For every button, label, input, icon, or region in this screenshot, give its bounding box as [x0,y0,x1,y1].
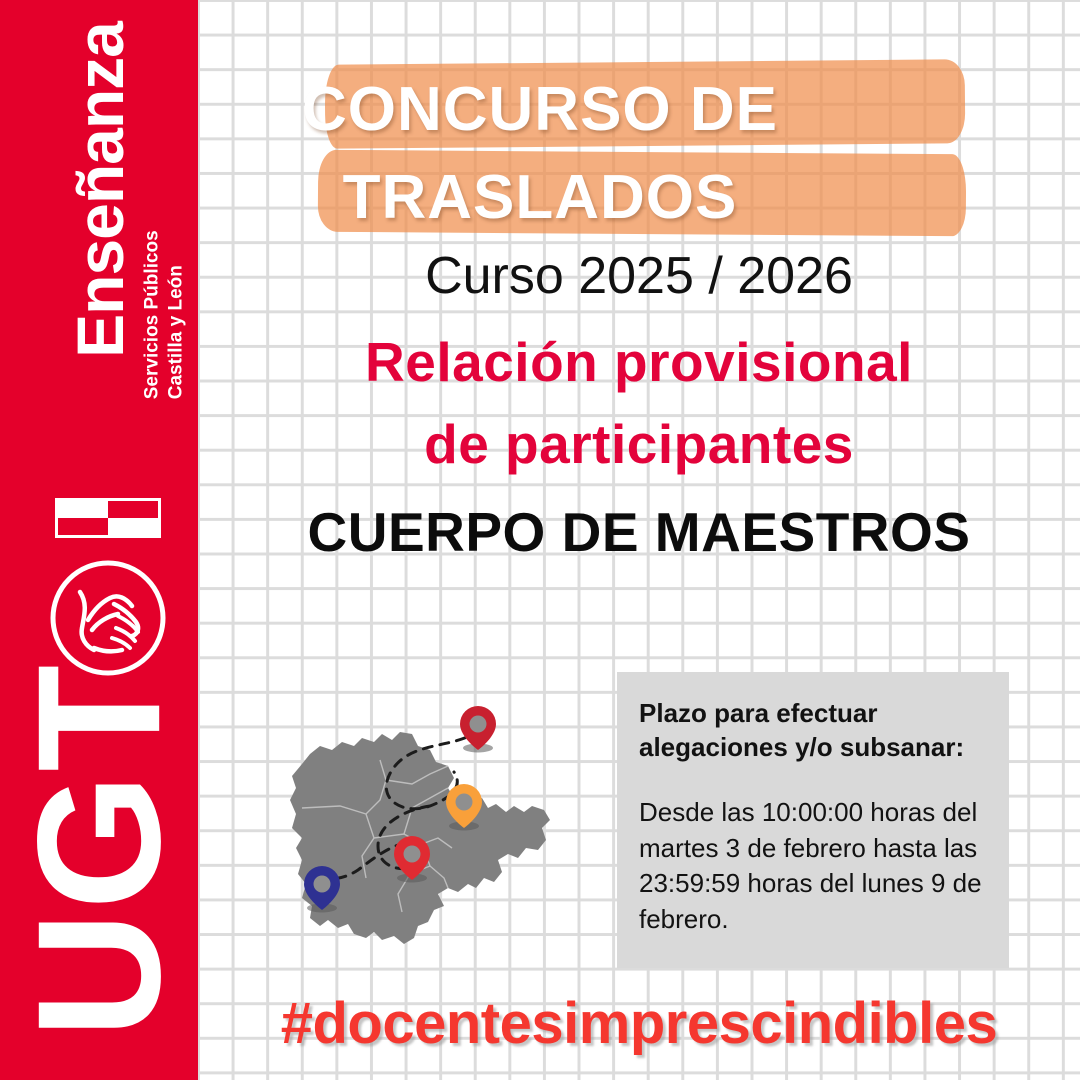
course-year: Curso 2025 / 2026 [198,246,1080,306]
castilla-y-leon-map [262,688,602,958]
campaign-hashtag: #docentesimprescindibles [198,990,1080,1057]
handshake-circle-icon [48,558,168,678]
body-label: CUERPO DE MAESTROS [198,500,1080,564]
union-name: UGT [13,662,188,1037]
castilla-y-leon-flag-icon [55,498,161,538]
deadline-info-box: Plazo para efectuar alegaciones y/o subs… [617,672,1009,968]
subtitle-line-2: Castilla y León [166,265,187,399]
subtitle-line-1: Servicios Públicos [141,231,162,400]
deadline-title: Plazo para efectuar alegaciones y/o subs… [639,696,987,765]
poster-canvas: Enseñanza Servicios Públicos Castilla y … [0,0,1080,1080]
deadline-body: Desde las 10:00:00 horas del martes 3 de… [639,795,987,939]
subtitle-red-line-1: Relación provisional [198,330,1080,394]
organization-subtitle: Servicios Públicos Castilla y León [141,231,187,400]
subtitle-red-line-2: de participantes [198,412,1080,476]
title-line-1: CONCURSO DE [0,74,1080,145]
title-line-2: TRASLADOS [0,162,1080,233]
union-name-wrapper: UGT [0,700,275,1000]
